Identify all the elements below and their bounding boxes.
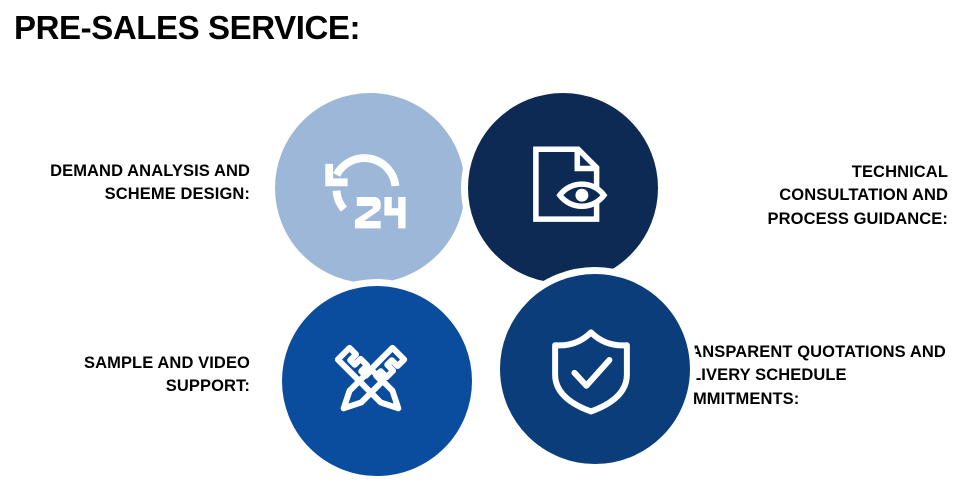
circle-technical-consultation[interactable] — [461, 86, 665, 290]
clock-24-arrow-icon — [320, 140, 412, 232]
label-sample-video-support: SAMPLE AND VIDEO SUPPORT: — [20, 352, 250, 399]
shield-check-icon — [545, 325, 637, 417]
page-title: PRE-SALES SERVICE: — [14, 8, 360, 48]
crossed-pens-icon — [325, 335, 417, 427]
circle-sample-video-support[interactable] — [275, 279, 479, 483]
document-eye-icon — [523, 140, 615, 232]
circle-demand-analysis[interactable] — [268, 86, 472, 290]
circle-transparent-quotations[interactable] — [493, 267, 697, 471]
label-technical-consultation: TECHNICAL CONSULTATION AND PROCESS GUIDA… — [728, 161, 948, 231]
label-transparent-quotations: TRANSPARENT QUOTATIONS AND DELIVERY SCHE… — [668, 341, 960, 411]
label-demand-analysis: DEMAND ANALYSIS AND SCHEME DESIGN: — [20, 160, 250, 207]
venn-diagram — [268, 86, 672, 490]
